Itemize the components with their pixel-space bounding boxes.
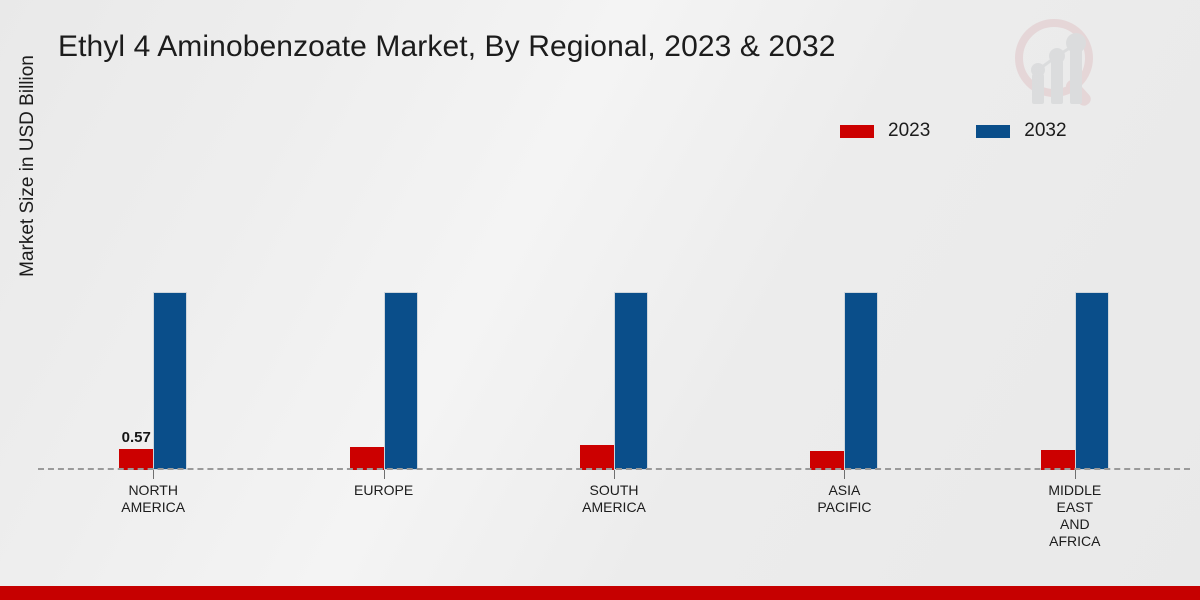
axis-tick: [153, 470, 154, 479]
bar-2032-europe[interactable]: [384, 292, 418, 470]
x-label-line: ASIA: [729, 482, 959, 499]
bar-value-2023-north-america: 0.57: [122, 429, 151, 446]
legend-label-2023: 2023: [888, 120, 930, 142]
bar-2032-asia-pacific[interactable]: [844, 292, 878, 470]
x-label-line: AND: [960, 516, 1190, 533]
legend-swatch-2032: [976, 125, 1010, 138]
bar-pair: [1041, 292, 1109, 470]
x-label-line: PACIFIC: [729, 499, 959, 516]
bottom-accent-strip: [0, 586, 1200, 600]
bar-pair: 0.57: [119, 292, 187, 470]
bar-pair: [810, 292, 878, 470]
bar-group-north-america: 0.57: [38, 160, 268, 470]
chart-title: Ethyl 4 Aminobenzoate Market, By Regiona…: [58, 30, 836, 64]
legend-item-2023[interactable]: 2023: [840, 120, 930, 142]
bar-group-europe: [268, 160, 498, 470]
y-axis-title: Market Size in USD Billion: [17, 1, 39, 331]
bar-group-asia-pacific: [729, 160, 959, 470]
bar-2032-middle-east-and-africa[interactable]: [1075, 292, 1109, 470]
bar-pair: [580, 292, 648, 470]
bar-2032-north-america[interactable]: [153, 292, 187, 470]
axis-tick: [1075, 470, 1076, 479]
x-label-line: SOUTH: [499, 482, 729, 499]
bar-pair: [350, 292, 418, 470]
x-label-line: AMERICA: [499, 499, 729, 516]
axis-baseline: [38, 468, 1190, 470]
legend-item-2032[interactable]: 2032: [976, 120, 1066, 142]
plot-area: 0.57: [38, 160, 1190, 470]
chart-page: Ethyl 4 Aminobenzoate Market, By Regiona…: [0, 0, 1200, 600]
bar-2032-south-america[interactable]: [614, 292, 648, 470]
axis-tick: [384, 470, 385, 479]
watermark-logo-icon: [1004, 12, 1112, 112]
x-label-line: EAST: [960, 499, 1190, 516]
axis-tick: [844, 470, 845, 479]
bar-2023-south-america[interactable]: [580, 445, 614, 470]
bar-group-south-america: [499, 160, 729, 470]
x-label-line: AFRICA: [960, 533, 1190, 550]
x-label-north-america: NORTH AMERICA: [38, 482, 268, 550]
x-label-line: AMERICA: [38, 499, 268, 516]
bar-2023-north-america[interactable]: 0.57: [119, 449, 153, 470]
x-axis-labels: NORTH AMERICA EUROPE SOUTH AMERICA ASIA …: [38, 482, 1190, 550]
bar-2023-europe[interactable]: [350, 447, 384, 470]
chart-legend: 2023 2032: [840, 120, 1067, 142]
x-label-line: NORTH: [38, 482, 268, 499]
x-label-middle-east-and-africa: MIDDLE EAST AND AFRICA: [960, 482, 1190, 550]
x-label-line: MIDDLE: [960, 482, 1190, 499]
x-label-line: EUROPE: [268, 482, 498, 499]
x-label-asia-pacific: ASIA PACIFIC: [729, 482, 959, 550]
bar-group-middle-east-and-africa: [960, 160, 1190, 470]
x-label-south-america: SOUTH AMERICA: [499, 482, 729, 550]
legend-swatch-2023: [840, 125, 874, 138]
bar-groups: 0.57: [38, 160, 1190, 470]
x-label-europe: EUROPE: [268, 482, 498, 550]
legend-label-2032: 2032: [1024, 120, 1066, 142]
bar-2023-middle-east-and-africa[interactable]: [1041, 450, 1075, 470]
axis-tick: [614, 470, 615, 479]
